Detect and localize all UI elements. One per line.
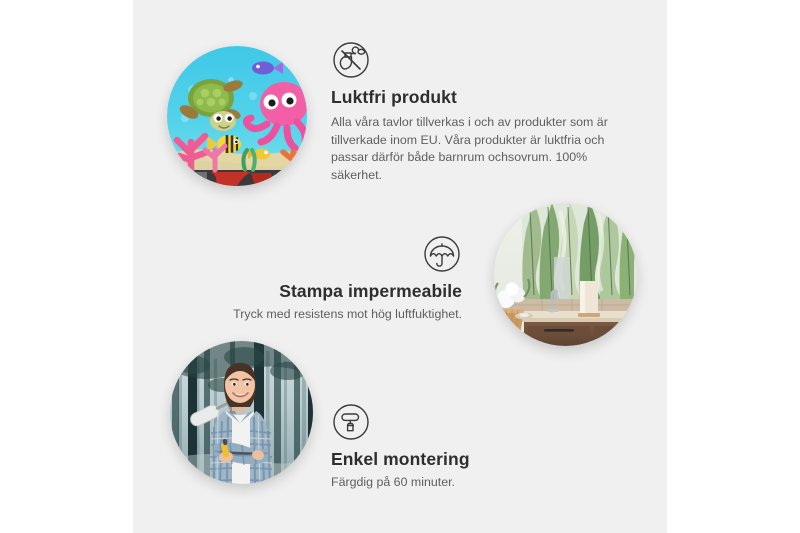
bathroom-botanical-wallpaper-thumbnail [494,203,637,346]
umbrella-icon [422,234,462,274]
paint-roller-icon [331,402,371,442]
feature-title: Luktfri produkt [331,87,633,108]
forest-installer-art [170,341,313,484]
bathroom-vanity-art [494,203,637,346]
feature-description: Färgdig på 60 minuter. [331,474,591,492]
feature-waterproof-print: Stampa impermeabile Tryck med resistens … [170,234,462,324]
infographic-canvas: Luktfri produkt Alla våra tavlor tillver… [0,0,800,533]
feature-description: Alla våra tavlor tillverkas i och av pro… [331,114,633,184]
underwater-cartoon-scene-thumbnail [167,46,307,186]
feature-odour-free: Luktfri produkt Alla våra tavlor tillver… [331,40,633,184]
no-odour-spray-bottle-icon [331,40,371,80]
feature-easy-mounting: Enkel montering Färgdig på 60 minuter. [331,402,591,492]
underwater-scene-art [167,46,307,186]
woman-with-paint-roller-thumbnail [170,341,313,484]
feature-title: Stampa impermeabile [170,281,462,302]
feature-title: Enkel montering [331,449,591,470]
feature-description: Tryck med resistens mot hög luftfuktighe… [170,306,462,324]
